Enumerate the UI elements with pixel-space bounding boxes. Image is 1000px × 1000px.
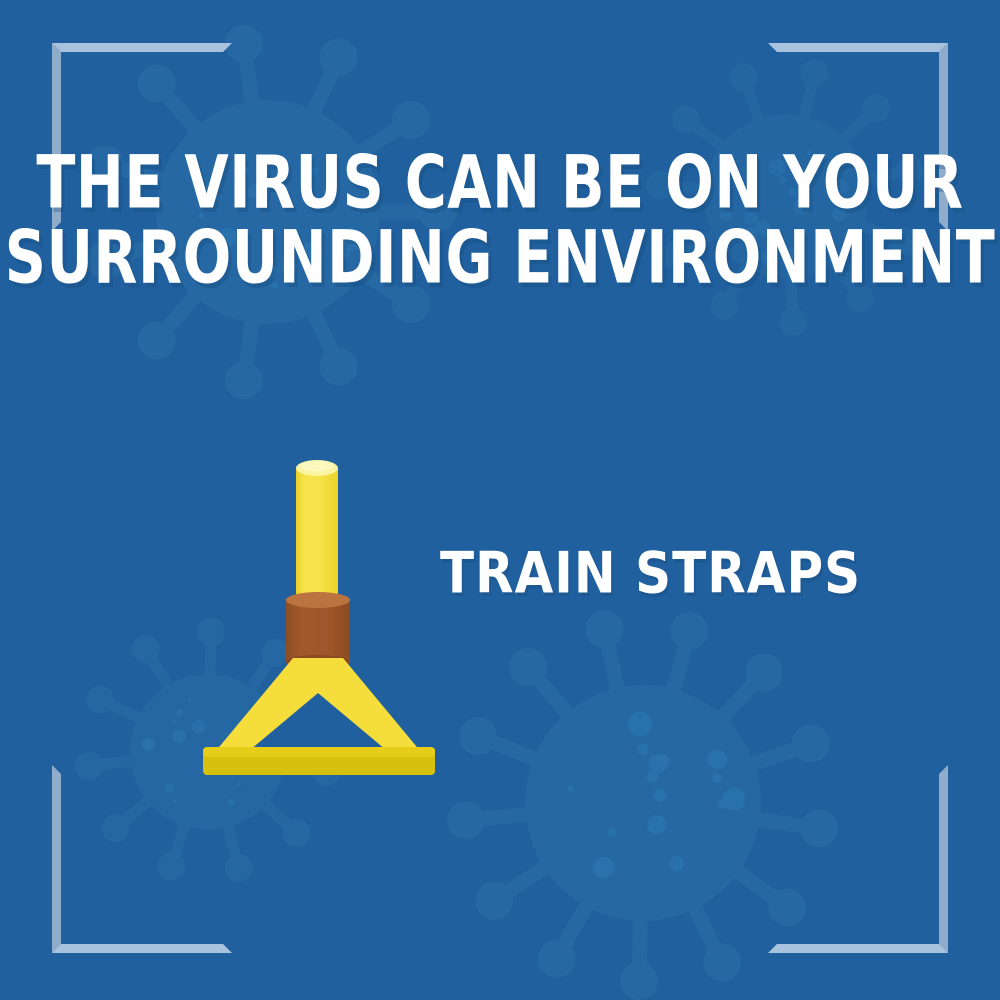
bracket-bottom-right	[768, 765, 948, 953]
train-strap-illustration	[190, 450, 450, 790]
headline-line-2: SURROUNDING ENVIRONMENT	[0, 225, 1000, 292]
grip-top-face	[286, 592, 350, 608]
strap-grip	[286, 592, 350, 669]
pole-top-highlight	[300, 461, 334, 472]
strap-triangle	[210, 658, 426, 758]
headline-line-1: THE VIRUS CAN BE ON YOUR	[0, 150, 1000, 217]
virus-bottom-right	[447, 610, 838, 1000]
poster-canvas: THE VIRUS CAN BE ON YOUR SURROUNDING ENV…	[0, 0, 1000, 1000]
caption-train-straps: TRAIN STRAPS	[440, 540, 910, 606]
bracket-bottom-left	[52, 765, 232, 953]
strap-base-bar	[203, 747, 435, 775]
base-bar-highlight	[203, 747, 435, 757]
headline: THE VIRUS CAN BE ON YOUR SURROUNDING ENV…	[0, 150, 1000, 280]
